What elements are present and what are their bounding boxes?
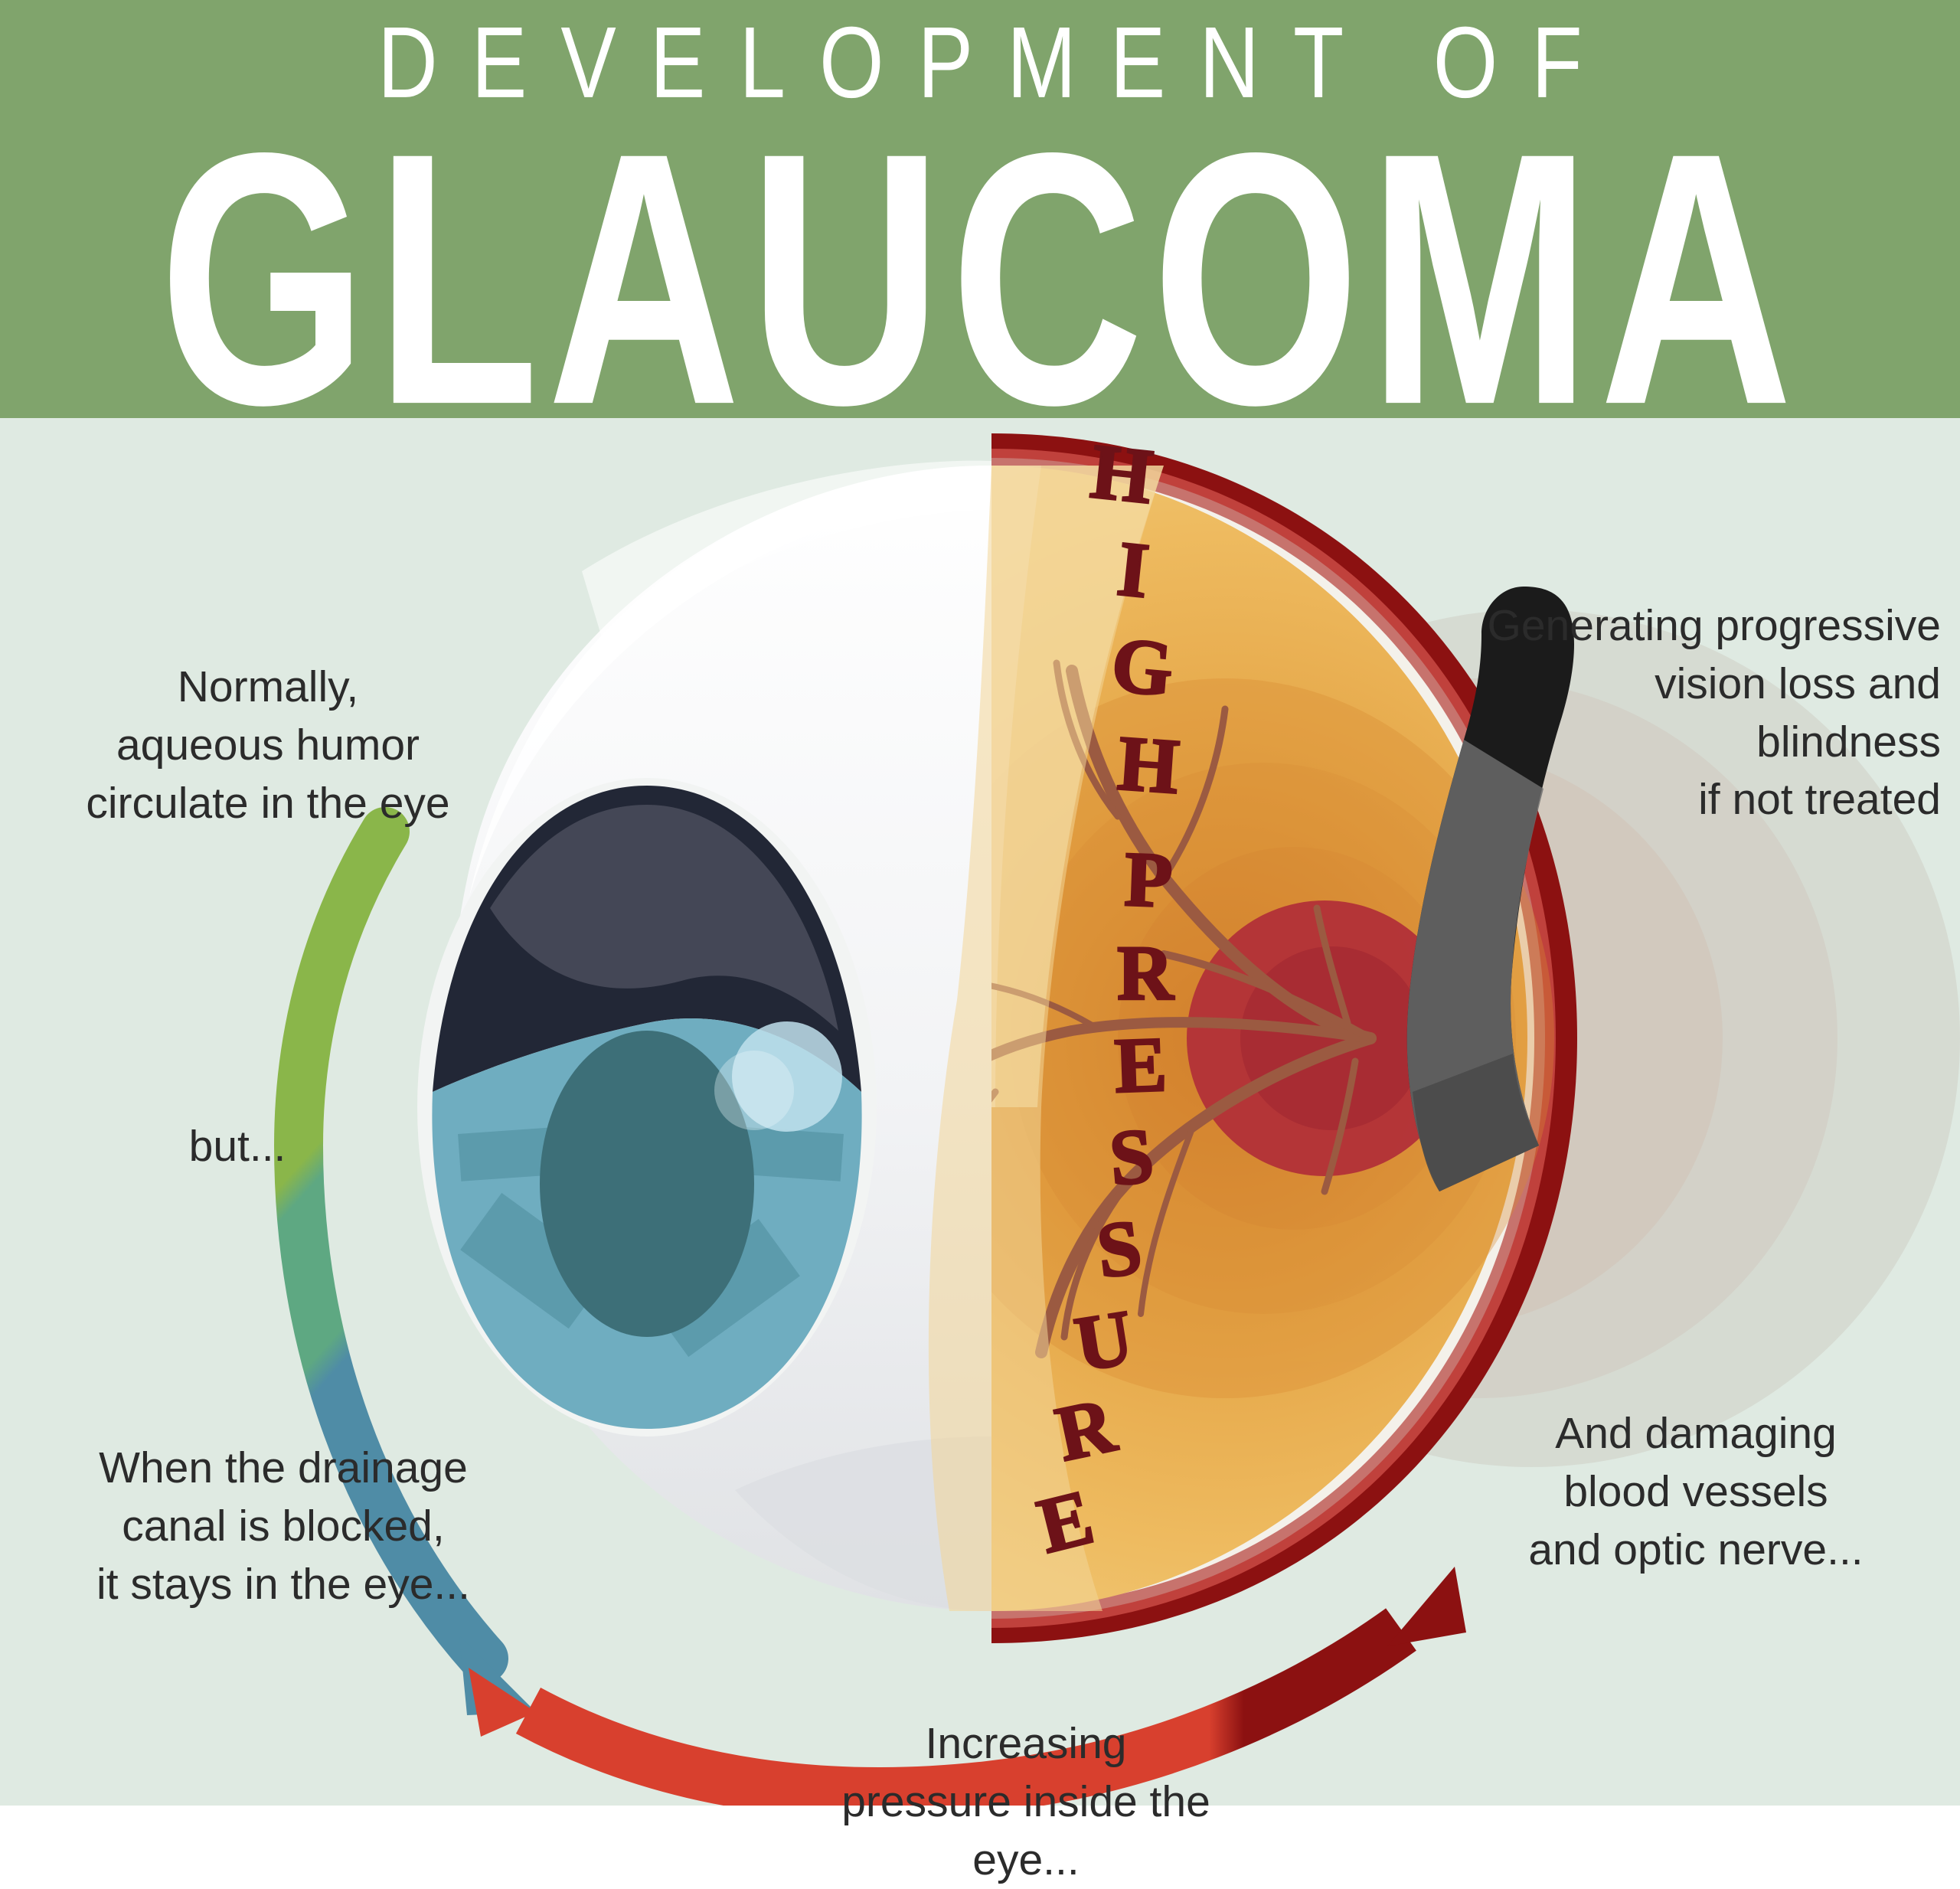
callout-normally: Normally, aqueous humor circulate in the… bbox=[61, 659, 475, 832]
infographic-poster: DEVELOPMENT OF GLAUCOMA bbox=[0, 0, 1960, 1806]
callout-drainage-blocked: When the drainage canal is blocked, it s… bbox=[69, 1440, 498, 1613]
poster-header: DEVELOPMENT OF GLAUCOMA bbox=[0, 0, 1960, 418]
callout-increasing-pressure: Increasing pressure inside the eye... bbox=[789, 1715, 1263, 1889]
callout-damaging-nerve: And damaging blood vessels and optic ner… bbox=[1478, 1405, 1914, 1579]
anterior-segment bbox=[417, 778, 877, 1436]
page-title: GLAUCOMA bbox=[0, 100, 1960, 418]
callout-but: but... bbox=[115, 1118, 360, 1176]
callout-vision-loss: Generating progressive vision loss and b… bbox=[1459, 597, 1941, 829]
